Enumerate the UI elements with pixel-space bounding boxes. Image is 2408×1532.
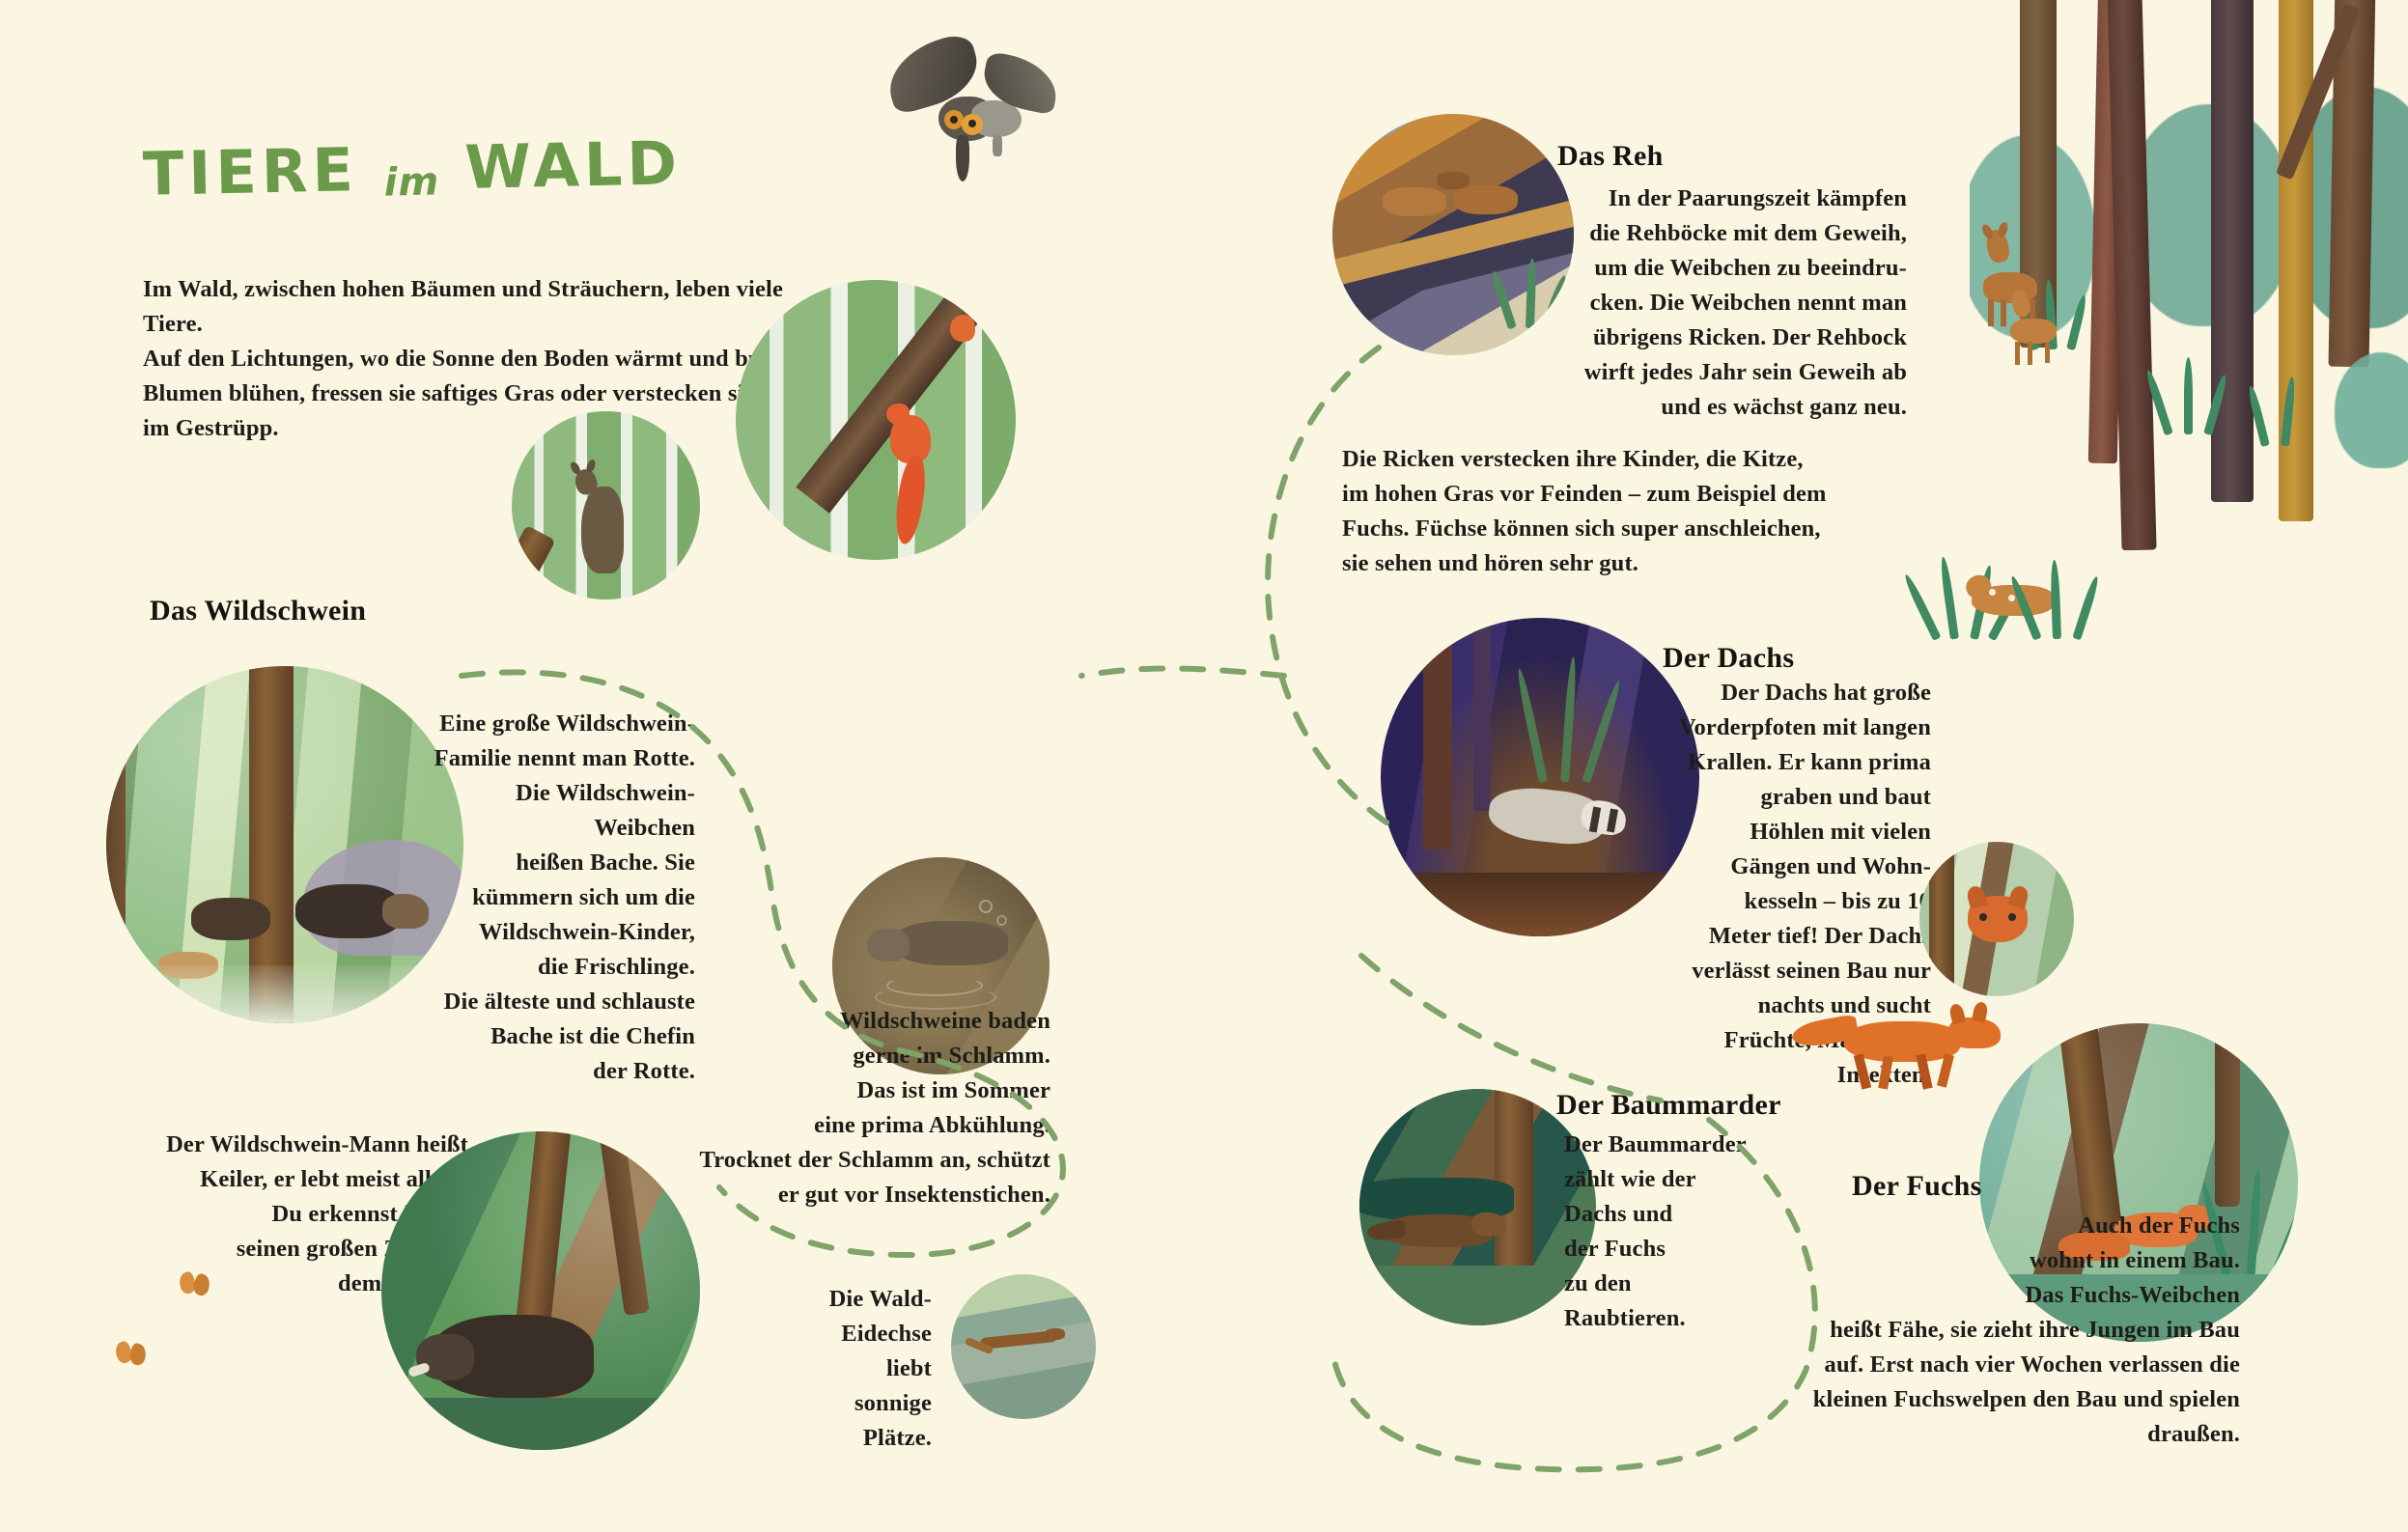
wild-boar-adult bbox=[191, 898, 270, 940]
tree-trunk bbox=[2107, 0, 2156, 550]
grass-tuft bbox=[2161, 357, 2228, 434]
owl-flying-icon bbox=[881, 39, 1054, 193]
fawn-in-grass bbox=[1931, 521, 2105, 647]
butterfly bbox=[180, 1272, 212, 1297]
bush-teal bbox=[2335, 352, 2408, 468]
grass-tuft bbox=[2255, 376, 2313, 446]
circle-forest-lizard bbox=[951, 1274, 1096, 1419]
roe-deer bbox=[581, 487, 624, 573]
text-eidechse: Die Wald- Eidechse liebt sonnige Plätze. bbox=[792, 1282, 932, 1456]
circle-wild-boar-family bbox=[106, 666, 463, 1023]
heading-das-reh: Das Reh bbox=[1557, 140, 1664, 173]
red-squirrel bbox=[950, 315, 975, 342]
title-word-tiere: TIERE bbox=[142, 134, 358, 209]
title-word-im: im bbox=[383, 159, 439, 205]
wild-boar-in-mud bbox=[892, 921, 1008, 965]
text-die-ricken: Die Ricken verstecken ihre Kinder, die K… bbox=[1342, 442, 1883, 581]
heading-das-wildschwein: Das Wildschwein bbox=[150, 595, 366, 627]
text-der-baummarder: Der Baummarder zählt wie der Dachs und d… bbox=[1564, 1128, 1757, 1336]
circle-pine-marten bbox=[1359, 1089, 1596, 1325]
book-spread: TIERE im WALD Im Wald, zwischen hohen Bä… bbox=[0, 0, 2408, 1532]
circle-squirrel-birch bbox=[736, 280, 1016, 560]
heading-der-fuchs: Der Fuchs bbox=[1852, 1170, 1982, 1203]
heading-der-dachs: Der Dachs bbox=[1663, 642, 1794, 675]
heading-der-baummarder: Der Baummarder bbox=[1556, 1089, 1781, 1122]
roe-deer-right-edge bbox=[2006, 280, 2062, 367]
butterfly-pair bbox=[116, 1272, 232, 1379]
intro-paragraph: Im Wald, zwischen hohen Bäumen und Sträu… bbox=[143, 272, 819, 446]
title-word-wald: WALD bbox=[464, 127, 683, 203]
roe-buck bbox=[1383, 187, 1446, 216]
butterfly bbox=[116, 1342, 149, 1367]
text-das-reh: In der Paarungszeit kämpfen die Rehböcke… bbox=[1506, 181, 1907, 425]
text-der-fuchs: Auch der Fuchs wohnt in einem Bau. Das F… bbox=[1777, 1209, 2240, 1452]
page-title: TIERE im WALD bbox=[142, 127, 682, 209]
circle-boar-keiler bbox=[381, 1131, 700, 1450]
circle-fox-head bbox=[1919, 842, 2074, 996]
forest-trees-top-right bbox=[1970, 0, 2408, 550]
circle-roe-deer-birch bbox=[512, 411, 700, 599]
